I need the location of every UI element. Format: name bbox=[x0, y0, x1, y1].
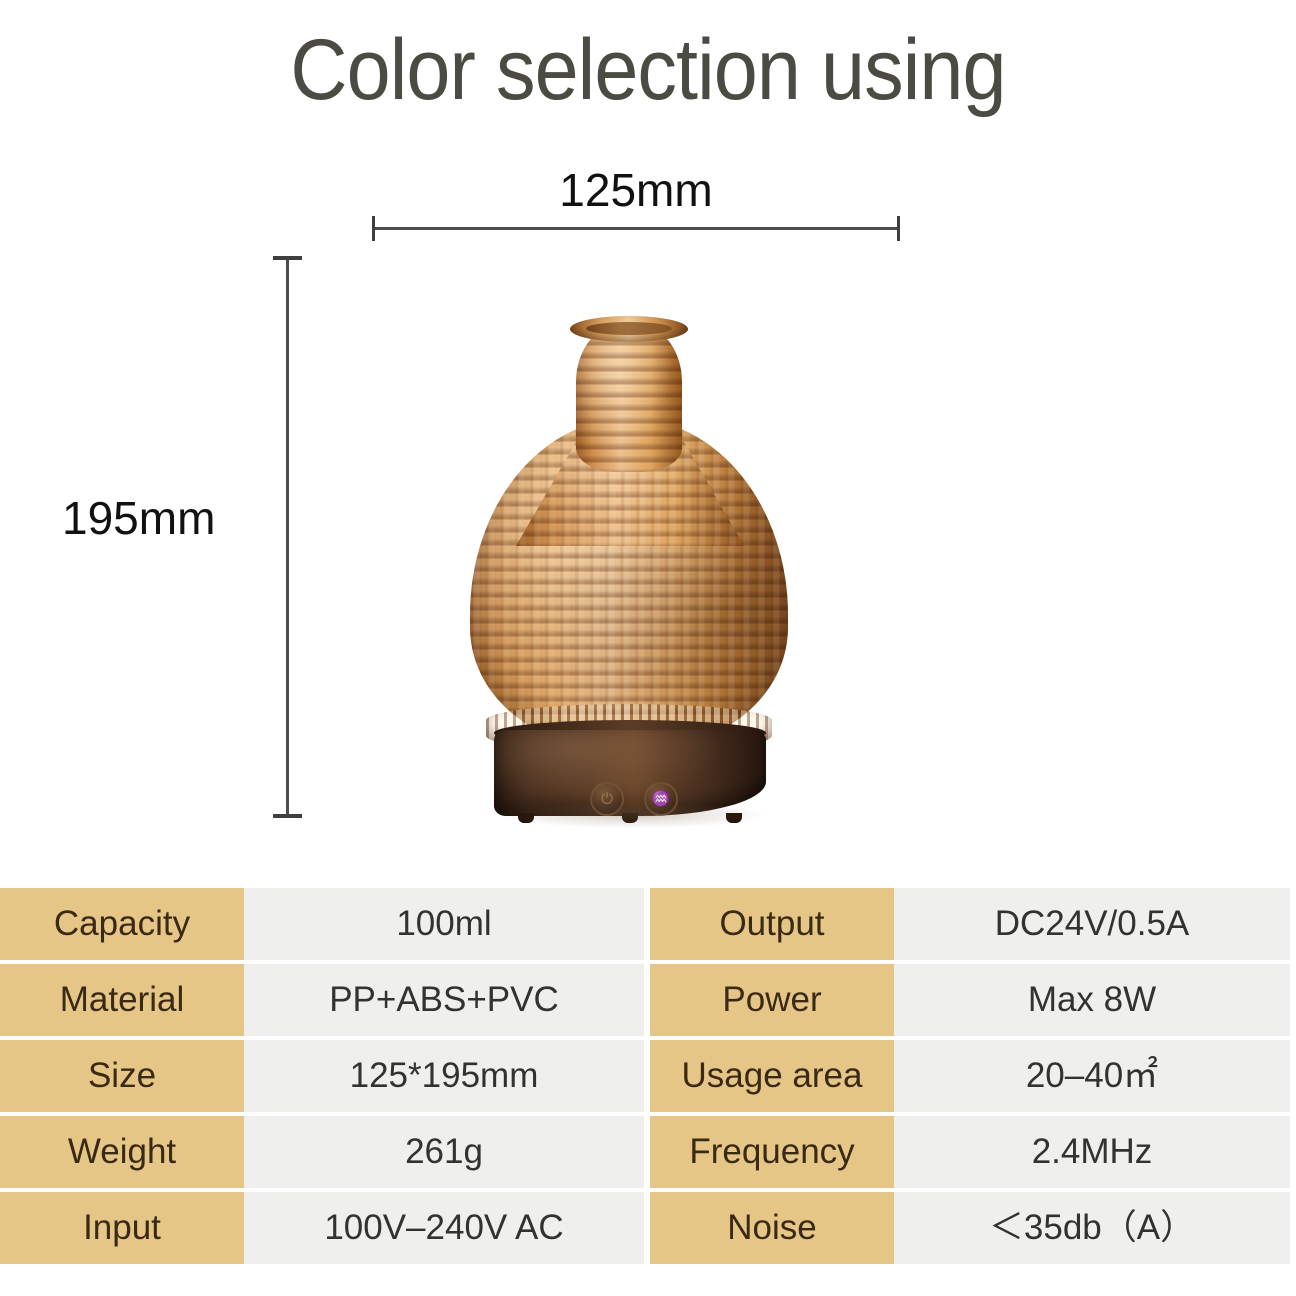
spec-label-noise: Noise bbox=[650, 1192, 894, 1264]
spec-value-usage-area: 20–40㎡ bbox=[894, 1040, 1290, 1112]
width-dimension-line bbox=[372, 227, 900, 230]
spec-label-power: Power bbox=[650, 964, 894, 1036]
spec-value-output: DC24V/0.5A bbox=[894, 888, 1290, 960]
spec-label-material: Material bbox=[0, 964, 244, 1036]
spec-label-size: Size bbox=[0, 1040, 244, 1112]
height-dimension-label: 195mm bbox=[62, 490, 215, 546]
spec-label-frequency: Frequency bbox=[650, 1116, 894, 1188]
dimension-cap-left bbox=[372, 216, 375, 241]
product-spec-page: Color selection using 125mm 195mm bbox=[0, 0, 1296, 1296]
vase-neck bbox=[576, 322, 682, 472]
table-row: Input 100V–240V AC Noise ＜35db（A） bbox=[0, 1192, 1296, 1264]
table-row: Material PP+ABS+PVC Power Max 8W bbox=[0, 964, 1296, 1036]
height-dimension-line bbox=[286, 256, 289, 818]
page-title: Color selection using bbox=[52, 14, 1244, 126]
spec-value-power: Max 8W bbox=[894, 964, 1290, 1036]
spec-value-weight: 261g bbox=[244, 1116, 644, 1188]
dimension-cap-top bbox=[273, 256, 302, 260]
spec-value-material: PP+ABS+PVC bbox=[244, 964, 644, 1036]
table-row: Capacity 100ml Output DC24V/0.5A bbox=[0, 888, 1296, 960]
spec-label-output: Output bbox=[650, 888, 894, 960]
spec-value-size: 125*195mm bbox=[244, 1040, 644, 1112]
spec-value-capacity: 100ml bbox=[244, 888, 644, 960]
rattan-vase-body: ⏻ ♒ bbox=[430, 300, 830, 770]
product-shadow bbox=[500, 802, 765, 828]
dimension-cap-right bbox=[897, 216, 900, 241]
spec-table: Capacity 100ml Output DC24V/0.5A Materia… bbox=[0, 888, 1296, 1268]
product-image: ⏻ ♒ bbox=[430, 300, 830, 830]
dimension-cap-bottom bbox=[273, 814, 302, 818]
spec-label-capacity: Capacity bbox=[0, 888, 244, 960]
spec-label-weight: Weight bbox=[0, 1116, 244, 1188]
spec-label-input: Input bbox=[0, 1192, 244, 1264]
spec-value-frequency: 2.4MHz bbox=[894, 1116, 1290, 1188]
spec-value-input: 100V–240V AC bbox=[244, 1192, 644, 1264]
spec-value-noise: ＜35db（A） bbox=[894, 1192, 1290, 1264]
table-row: Weight 261g Frequency 2.4MHz bbox=[0, 1116, 1296, 1188]
spec-label-usage-area: Usage area bbox=[650, 1040, 894, 1112]
width-dimension-label: 125mm bbox=[372, 162, 900, 218]
table-row: Size 125*195mm Usage area 20–40㎡ bbox=[0, 1040, 1296, 1112]
weave-texture-neck bbox=[576, 322, 682, 472]
vase-rim-opening bbox=[586, 322, 672, 335]
